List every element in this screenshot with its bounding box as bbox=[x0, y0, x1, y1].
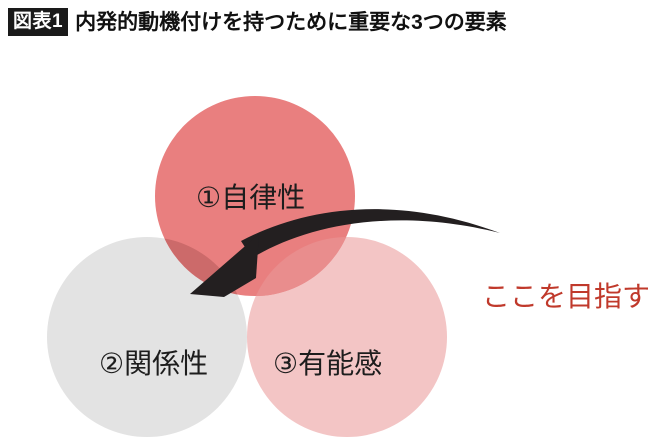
figure-number-badge: 図表1 bbox=[8, 8, 68, 36]
circle-label-competence: ③有能感 bbox=[273, 350, 382, 378]
callout-annotation: ここを目指す bbox=[482, 283, 650, 311]
circle-label-relatedness: ②関係性 bbox=[99, 350, 208, 378]
venn-diagram-graphic bbox=[0, 44, 670, 447]
figure-header: 図表1 内発的動機付けを持つために重要な3つの要素 bbox=[0, 0, 670, 44]
figure-title: 内発的動機付けを持つために重要な3つの要素 bbox=[75, 12, 507, 33]
circle-label-autonomy: ①自律性 bbox=[196, 184, 305, 212]
venn-diagram: ①自律性 ②関係性 ③有能感 ここを目指す bbox=[0, 44, 670, 447]
figure-container: 図表1 内発的動機付けを持つために重要な3つの要素 bbox=[0, 0, 670, 447]
